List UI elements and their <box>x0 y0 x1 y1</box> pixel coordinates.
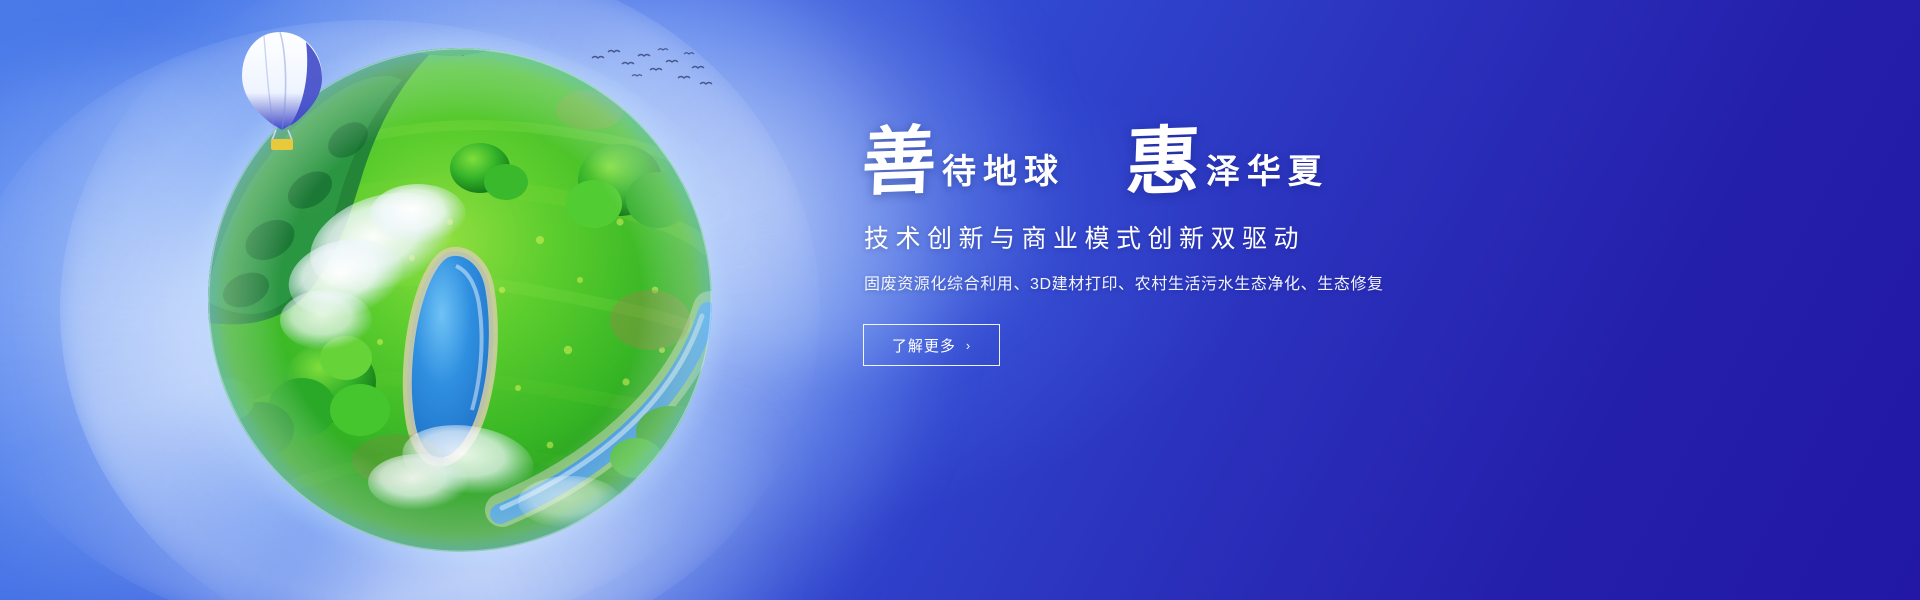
headline-small-text-2: 泽华夏 <box>1206 156 1329 190</box>
headline-phrase-1: 善 待地球 <box>862 126 1065 200</box>
chevron-right-icon: › <box>966 338 971 353</box>
headline-big-char-2: 惠 <box>1125 125 1202 202</box>
headline-small-text-1: 待地球 <box>942 156 1065 190</box>
headline: 善 待地球 惠 泽华夏 <box>862 126 1562 206</box>
headline-phrase-2: 惠 泽华夏 <box>1126 126 1329 200</box>
description: 固废资源化综合利用、3D建材打印、农村生活污水生态净化、生态修复 <box>864 272 1562 298</box>
subtitle: 技术创新与商业模式创新双驱动 <box>864 222 1562 256</box>
hero-banner: 善 待地球 惠 泽华夏 技术创新与商业模式创新双驱动 固废资源化综合利用、3D建… <box>0 0 1920 600</box>
headline-big-char-1: 善 <box>861 125 938 202</box>
learn-more-label: 了解更多 <box>892 335 956 356</box>
globe-artwork <box>150 0 770 600</box>
hero-copy: 善 待地球 惠 泽华夏 技术创新与商业模式创新双驱动 固废资源化综合利用、3D建… <box>862 126 1562 366</box>
learn-more-button[interactable]: 了解更多 › <box>863 324 1000 366</box>
